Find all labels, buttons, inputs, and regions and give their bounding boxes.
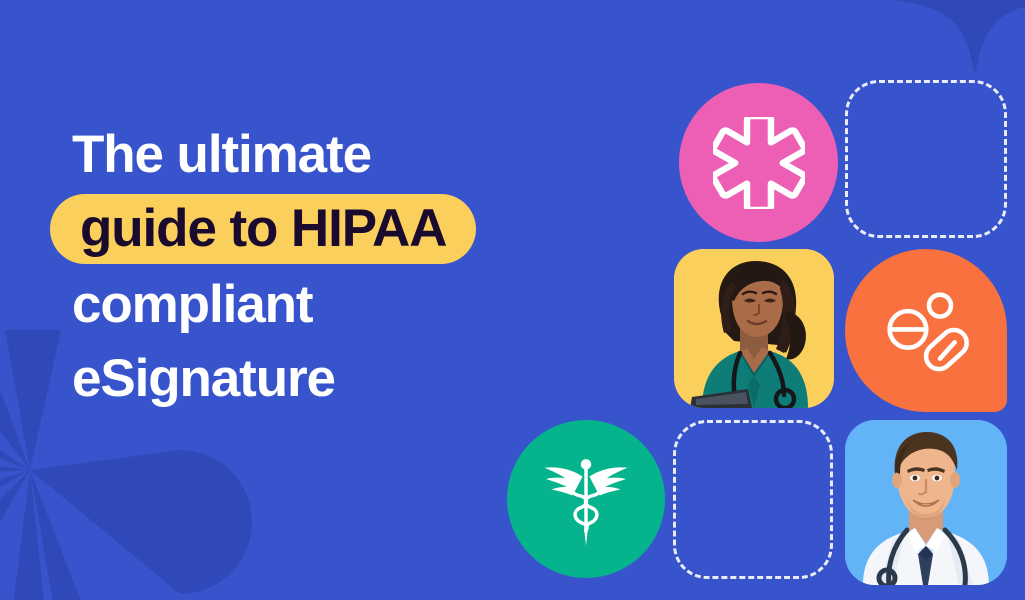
tile-placeholder-top: [845, 80, 1007, 238]
tile-placeholder-bottom: [673, 420, 833, 579]
headline-line-3: compliant: [72, 268, 612, 342]
tile-photo-nurse: [674, 249, 834, 408]
doctor-portrait-image: [845, 420, 1007, 585]
nurse-portrait-image: [674, 249, 834, 408]
headline-line-1: The ultimate: [72, 118, 612, 192]
caduceus-icon: [534, 447, 638, 551]
tile-star-of-life: [679, 83, 838, 242]
headline-line-4: eSignature: [72, 342, 612, 416]
headline-line-2-highlight: guide to HIPAA: [50, 194, 476, 264]
star-of-life-icon: [713, 117, 805, 209]
headline: The ultimate guide to HIPAA compliant eS…: [72, 118, 612, 416]
tile-caduceus: [507, 420, 665, 578]
hipaa-guide-banner: The ultimate guide to HIPAA compliant eS…: [0, 0, 1025, 600]
tile-photo-doctor: [845, 420, 1007, 585]
pills-icon: [883, 291, 975, 377]
tile-pills: [845, 249, 1007, 412]
